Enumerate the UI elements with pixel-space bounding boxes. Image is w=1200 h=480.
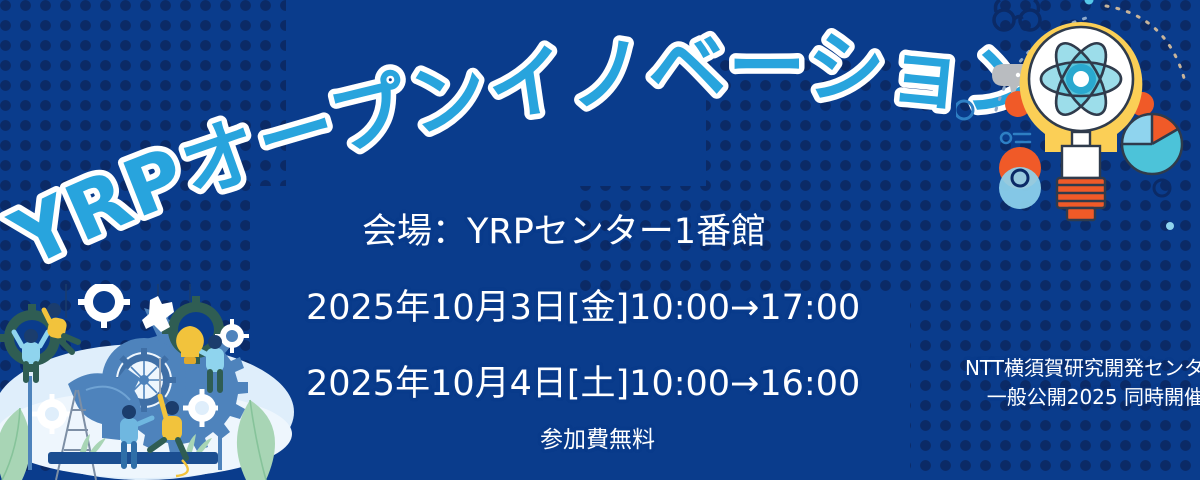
bulb-base [1057,178,1105,220]
venue-text: 会場：YRPセンター1番館 [362,203,766,254]
admission-fee-text: 参加費無料 [540,420,655,454]
co-event-line-2: 一般公開2025 同時開催 [965,383,1200,412]
lightbulb-atom-icon [956,0,1200,242]
pie-chart-icon [1122,114,1182,174]
date-line-1: 2025年10月3日[金]10:00→17:00 [306,279,860,330]
glasses-icon [994,0,1040,30]
dot-cyan-2 [1166,222,1174,230]
event-banner: YRPオープンイノベーションデー2025 YRPオープンイノベーションデー202… [0,0,1200,480]
co-event-line-1: NTT横須賀研究開発センタ [965,354,1200,383]
ring-small-2 [956,101,973,119]
ring-small-3 [1154,180,1170,196]
doodle-lines [1001,133,1030,143]
co-event-block: NTT横須賀研究開発センタ 一般公開2025 同時開催 [965,354,1200,412]
dot-cyan-1 [1085,0,1094,5]
overlap-blobs [999,147,1041,209]
date-line-2: 2025年10月4日[土]10:00→16:00 [306,355,860,406]
teamwork-gears-illustration [0,284,294,480]
